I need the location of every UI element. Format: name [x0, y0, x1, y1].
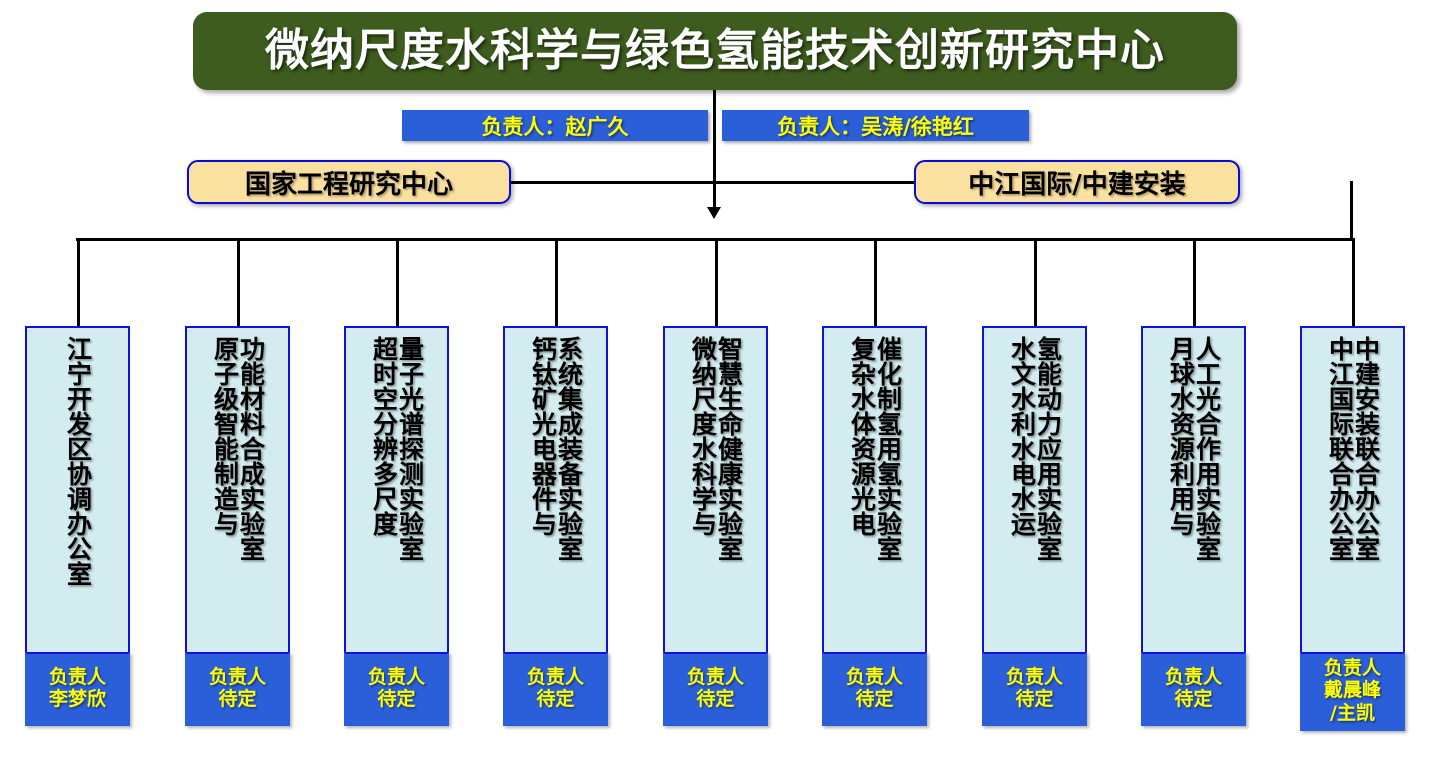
department-lead-box: 负责人待定 [503, 652, 608, 726]
lead-title: 负责人 [687, 666, 744, 688]
drop-line [555, 238, 558, 326]
lead-name: 李梦欣 [49, 688, 106, 710]
department-vertical-text: 功能材料合成实验室原子级智能制造与 [187, 336, 288, 648]
leader-strip-left: 负责人：赵广久 [402, 110, 708, 141]
leader-label-left: 负责人：赵广久 [482, 111, 629, 141]
department-name-column: 微纳尺度水科学与 [690, 336, 716, 536]
lead-name: 戴晨峰 [1324, 679, 1381, 701]
title-to-bus-connector [713, 90, 716, 211]
department-name-column: 氢能动力应用实验室 [1035, 336, 1061, 561]
department-name-box: 江宁开发区协调办公室 [25, 326, 130, 652]
lead-title: 负责人 [368, 666, 425, 688]
department-name-column: 功能材料合成实验室 [238, 336, 264, 561]
department-lead-box: 负责人戴晨峰/主凯 [1300, 652, 1405, 731]
leader-label-right: 负责人：吴涛/徐艳红 [777, 111, 974, 141]
department-lead-box: 负责人待定 [185, 652, 290, 726]
lead-title: 负责人 [1165, 666, 1222, 688]
drop-line [77, 238, 80, 326]
department-vertical-text: 系统集成装备实验室钙钛矿光电器件与 [505, 336, 606, 648]
partner-label-right: 中江国际/中建安装 [968, 164, 1186, 201]
department-name-column: 中江国际联合办公室 [1327, 336, 1353, 561]
lead-name: 待定 [855, 688, 893, 710]
department-column[interactable]: 系统集成装备实验室钙钛矿光电器件与负责人待定 [503, 326, 608, 726]
department-column[interactable]: 量子光谱探测实验室超时空分辨多尺度负责人待定 [344, 326, 449, 726]
department-lead-box: 负责人待定 [822, 652, 927, 726]
lead-title: 负责人 [49, 666, 106, 688]
lead-name: 待定 [1174, 688, 1212, 710]
lead-name: 待定 [696, 688, 734, 710]
lead-title: 负责人 [527, 666, 584, 688]
department-name-column: 系统集成装备实验室 [556, 336, 582, 561]
department-name-box: 量子光谱探测实验室超时空分辨多尺度 [344, 326, 449, 652]
drop-line [715, 238, 718, 326]
department-column[interactable]: 人工光合作用实验室月球水资源利用与负责人待定 [1141, 326, 1246, 726]
department-name-column: 钙钛矿光电器件与 [530, 336, 556, 536]
lead-title: 负责人 [1006, 666, 1063, 688]
department-name-box: 中建安装联合办公室中江国际联合办公室 [1300, 326, 1405, 652]
department-name-column: 中建安装联合办公室 [1353, 336, 1379, 561]
department-lead-box: 负责人待定 [982, 652, 1087, 726]
department-column[interactable]: 江宁开发区协调办公室负责人李梦欣 [25, 326, 130, 726]
department-column[interactable]: 氢能动力应用实验室水文水利水电水运负责人待定 [982, 326, 1087, 726]
department-name-column: 原子级智能制造与 [212, 336, 238, 536]
department-column[interactable]: 功能材料合成实验室原子级智能制造与负责人待定 [185, 326, 290, 726]
lead-title: 负责人 [1324, 657, 1381, 679]
partner-box-zhongjiang-zhongjian: 中江国际/中建安装 [914, 160, 1240, 204]
department-name-box: 人工光合作用实验室月球水资源利用与 [1141, 326, 1246, 652]
department-vertical-text: 氢能动力应用实验室水文水利水电水运 [984, 336, 1085, 648]
org-chart-canvas: 微纳尺度水科学与绿色氢能技术创新研究中心 负责人：赵广久 负责人：吴涛/徐艳红 … [0, 0, 1429, 758]
department-name-column: 智慧生命健康实验室 [716, 336, 742, 561]
department-column[interactable]: 中建安装联合办公室中江国际联合办公室负责人戴晨峰/主凯 [1300, 326, 1405, 731]
lead-name-extra: /主凯 [1330, 702, 1375, 724]
department-column[interactable]: 智慧生命健康实验室微纳尺度水科学与负责人待定 [663, 326, 768, 726]
drop-line [237, 238, 240, 326]
department-vertical-text: 人工光合作用实验室月球水资源利用与 [1143, 336, 1244, 648]
department-vertical-text: 江宁开发区协调办公室 [27, 336, 128, 648]
leader-strip-right: 负责人：吴涛/徐艳红 [722, 110, 1029, 141]
department-column[interactable]: 催化制氢用氢实验室复杂水体资源光电负责人待定 [822, 326, 927, 726]
department-name-column: 量子光谱探测实验室 [397, 336, 423, 561]
drop-line [1193, 238, 1196, 326]
drop-line [396, 238, 399, 326]
department-name-column: 月球水资源利用与 [1168, 336, 1194, 536]
center-title-box: 微纳尺度水科学与绿色氢能技术创新研究中心 [193, 12, 1237, 90]
drop-line [874, 238, 877, 326]
department-vertical-text: 智慧生命健康实验室微纳尺度水科学与 [665, 336, 766, 648]
department-name-box: 功能材料合成实验室原子级智能制造与 [185, 326, 290, 652]
department-lead-box: 负责人待定 [1141, 652, 1246, 726]
department-vertical-text: 中建安装联合办公室中江国际联合办公室 [1302, 336, 1403, 648]
lead-name: 待定 [377, 688, 415, 710]
department-name-box: 系统集成装备实验室钙钛矿光电器件与 [503, 326, 608, 652]
department-name-box: 智慧生命健康实验室微纳尺度水科学与 [663, 326, 768, 652]
bus-arrow-head [707, 207, 721, 219]
department-name-column: 催化制氢用氢实验室 [875, 336, 901, 561]
department-name-column: 江宁开发区协调办公室 [65, 336, 91, 586]
drop-line [1352, 238, 1355, 326]
lead-title: 负责人 [209, 666, 266, 688]
bus-right-riser [1350, 181, 1353, 241]
department-name-box: 氢能动力应用实验室水文水利水电水运 [982, 326, 1087, 652]
department-lead-box: 负责人待定 [663, 652, 768, 726]
department-name-column: 超时空分辨多尺度 [371, 336, 397, 536]
lead-name: 待定 [218, 688, 256, 710]
lead-name: 待定 [1015, 688, 1053, 710]
department-name-column: 人工光合作用实验室 [1194, 336, 1220, 561]
department-name-column: 复杂水体资源光电 [849, 336, 875, 536]
department-vertical-text: 催化制氢用氢实验室复杂水体资源光电 [824, 336, 925, 648]
department-vertical-text: 量子光谱探测实验室超时空分辨多尺度 [346, 336, 447, 648]
department-lead-box: 负责人李梦欣 [25, 652, 130, 726]
drop-line [1034, 238, 1037, 326]
partner-box-national-center: 国家工程研究中心 [187, 160, 511, 204]
center-title-text: 微纳尺度水科学与绿色氢能技术创新研究中心 [265, 29, 1165, 73]
department-name-column: 水文水利水电水运 [1009, 336, 1035, 536]
partner-label-left: 国家工程研究中心 [245, 164, 453, 201]
department-name-box: 催化制氢用氢实验室复杂水体资源光电 [822, 326, 927, 652]
department-lead-box: 负责人待定 [344, 652, 449, 726]
lead-name: 待定 [536, 688, 574, 710]
partner-link-line [511, 181, 914, 184]
lead-title: 负责人 [846, 666, 903, 688]
